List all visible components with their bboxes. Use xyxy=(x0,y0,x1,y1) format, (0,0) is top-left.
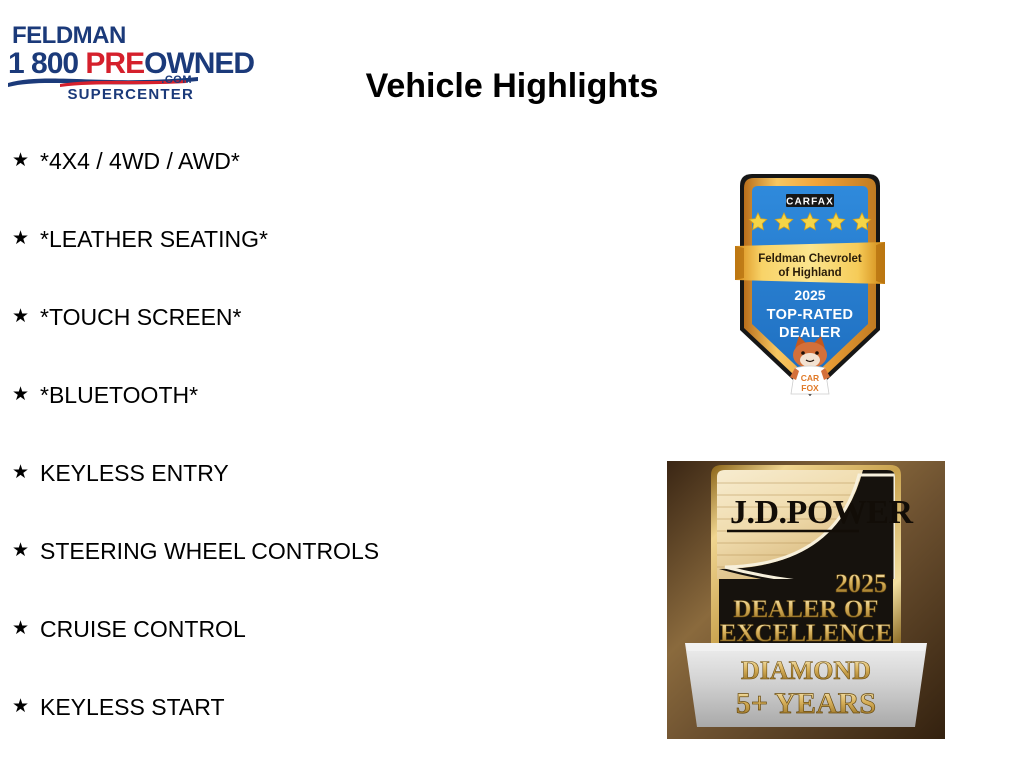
carfax-dealer-name-line2: of Highland xyxy=(778,267,841,279)
list-item: ★ KEYLESS START xyxy=(12,694,632,772)
highlight-label: CRUISE CONTROL xyxy=(40,616,246,642)
star-bullet-icon: ★ xyxy=(12,304,40,330)
star-bullet-icon: ★ xyxy=(12,148,40,174)
award-duration-text: 5+ YEARS xyxy=(736,687,876,720)
highlight-label: KEYLESS START xyxy=(40,694,225,720)
award-year-text: 2025 xyxy=(835,569,887,598)
highlight-label: *4X4 / 4WD / AWD* xyxy=(40,148,240,174)
list-item: ★ CRUISE CONTROL xyxy=(12,616,632,694)
star-bullet-icon: ★ xyxy=(12,226,40,252)
jdpower-brand-text: J.D.POWER xyxy=(730,494,913,531)
award-line2-text: EXCELLENCE xyxy=(720,620,892,647)
star-bullet-icon: ★ xyxy=(12,382,40,408)
list-item: ★ *BLUETOOTH* xyxy=(12,382,632,460)
star-bullet-icon: ★ xyxy=(12,616,40,642)
vehicle-highlights-list: ★ *4X4 / 4WD / AWD* ★ *LEATHER SEATING* … xyxy=(12,148,632,772)
highlight-label: *BLUETOOTH* xyxy=(40,382,198,408)
list-item: ★ KEYLESS ENTRY xyxy=(12,460,632,538)
star-bullet-icon: ★ xyxy=(12,460,40,486)
star-bullet-icon: ★ xyxy=(12,694,40,720)
list-item: ★ *TOUCH SCREEN* xyxy=(12,304,632,382)
carfax-top-rated-dealer-badge: CARFAX Feldman Chevrolet of Highland 202… xyxy=(733,170,887,402)
logo-feldman-text: FELDMAN xyxy=(12,24,198,48)
carfax-brand-text: CARFAX xyxy=(786,197,834,208)
highlight-label: *TOUCH SCREEN* xyxy=(40,304,242,330)
page-title: Vehicle Highlights xyxy=(0,67,1024,106)
highlight-label: *LEATHER SEATING* xyxy=(40,226,268,252)
award-tier-text: DIAMOND xyxy=(741,656,871,685)
list-item: ★ *4X4 / 4WD / AWD* xyxy=(12,148,632,226)
jdpower-dealer-of-excellence-award: J.D.POWER 2025 DEALER OF EXCELLENCE DIAM… xyxy=(667,461,945,739)
carfax-award-line2: DEALER xyxy=(779,325,841,341)
highlight-label: KEYLESS ENTRY xyxy=(40,460,229,486)
carfax-year-text: 2025 xyxy=(794,287,825,303)
car-fox-shirt-line1: CAR xyxy=(801,373,819,383)
list-item: ★ *LEATHER SEATING* xyxy=(12,226,632,304)
list-item: ★ STEERING WHEEL CONTROLS xyxy=(12,538,632,616)
carfax-dealer-name-line1: Feldman Chevrolet xyxy=(758,253,862,265)
star-bullet-icon: ★ xyxy=(12,538,40,564)
carfax-award-line1: TOP-RATED xyxy=(767,307,854,323)
award-line1-text: DEALER OF xyxy=(733,596,878,623)
highlight-label: STEERING WHEEL CONTROLS xyxy=(40,538,379,564)
car-fox-shirt-line2: FOX xyxy=(801,383,819,393)
